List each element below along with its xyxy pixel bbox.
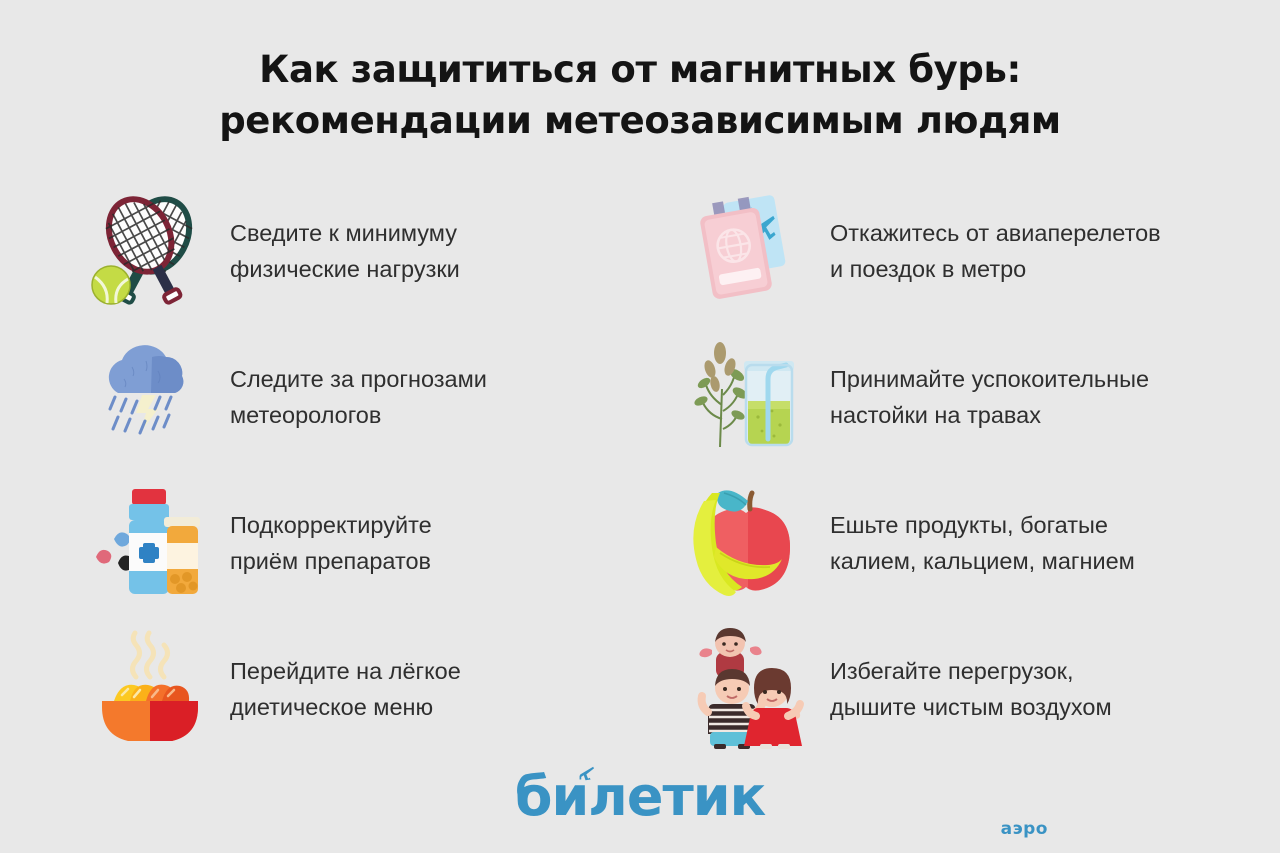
tip-line-1: Подкорректируйте: [230, 512, 432, 538]
food-bowl-icon: [88, 623, 212, 755]
brand-logo: билетик аэро: [0, 769, 1280, 839]
tip-text: Откажитесь от авиаперелетов и поездок в …: [830, 215, 1161, 287]
tip-line-1: Избегайте перегрузок,: [830, 658, 1073, 684]
tip-line-2: приём препаратов: [230, 543, 432, 579]
tip-line-2: метеорологов: [230, 397, 487, 433]
tip-line-1: Перейдите на лёгкое: [230, 658, 461, 684]
tip-line-2: дышите чистым воздухом: [830, 689, 1112, 725]
tip-line-2: калием, кальцием, магнием: [830, 543, 1135, 579]
tip-text: Сведите к минимуму физические нагрузки: [230, 215, 460, 287]
storm-cloud-icon: [88, 331, 212, 463]
tip-item: Избегайте перегрузок, дышите чистым возд…: [688, 616, 1278, 762]
passport-tickets-icon: [688, 185, 812, 317]
tip-item: Откажитесь от авиаперелетов и поездок в …: [688, 178, 1278, 324]
tip-item: Принимайте успокоительные настойки на тр…: [688, 324, 1278, 470]
tip-line-1: Ешьте продукты, богатые: [830, 512, 1108, 538]
fruits-icon: [688, 477, 812, 609]
logo-wordmark: билетик: [515, 769, 766, 825]
tip-line-1: Сведите к минимуму: [230, 220, 457, 246]
tip-text: Следите за прогнозами метеорологов: [230, 361, 487, 433]
title-line-2: рекомендации метеозависимым людям: [0, 95, 1280, 146]
tip-item: Подкорректируйте приём препаратов: [88, 470, 678, 616]
tips-grid: Сведите к минимуму физические нагрузки: [0, 178, 1280, 762]
tip-line-2: диетическое меню: [230, 689, 461, 725]
tip-item: Сведите к минимуму физические нагрузки: [88, 178, 678, 324]
tip-text: Перейдите на лёгкое диетическое меню: [230, 653, 461, 725]
family-children-icon: [688, 623, 812, 755]
tip-line-1: Откажитесь от авиаперелетов: [830, 220, 1161, 246]
logo-subtitle: аэро: [1001, 819, 1048, 839]
tip-line-2: физические нагрузки: [230, 251, 460, 287]
tip-text: Избегайте перегрузок, дышите чистым возд…: [830, 653, 1112, 725]
tip-line-2: настойки на травах: [830, 397, 1149, 433]
logo-text: билетик: [515, 765, 766, 828]
tip-item: Перейдите на лёгкое диетическое меню: [88, 616, 678, 762]
airplane-icon: [577, 765, 597, 783]
tip-line-2: и поездок в метро: [830, 251, 1161, 287]
tennis-rackets-icon: [88, 185, 212, 317]
page-title: Как защититься от магнитных бурь: рекоме…: [0, 0, 1280, 146]
medicine-bottles-icon: [88, 477, 212, 609]
tip-item: Ешьте продукты, богатые калием, кальцием…: [688, 470, 1278, 616]
tip-text: Ешьте продукты, богатые калием, кальцием…: [830, 507, 1135, 579]
tip-line-1: Принимайте успокоительные: [830, 366, 1149, 392]
tip-item: Следите за прогнозами метеорологов: [88, 324, 678, 470]
tip-line-1: Следите за прогнозами: [230, 366, 487, 392]
tip-text: Подкорректируйте приём препаратов: [230, 507, 432, 579]
title-line-1: Как защититься от магнитных бурь:: [0, 44, 1280, 95]
tip-text: Принимайте успокоительные настойки на тр…: [830, 361, 1149, 433]
herbal-drink-icon: [688, 331, 812, 463]
